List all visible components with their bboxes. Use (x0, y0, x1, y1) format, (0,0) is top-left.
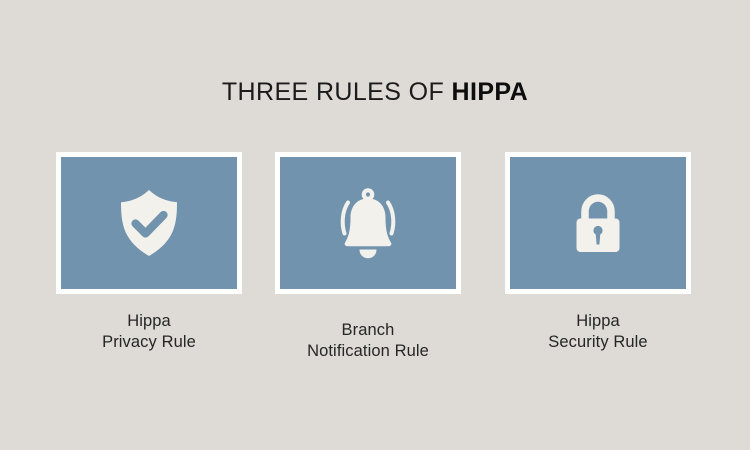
page-title: THREE RULES OF HIPPA (0, 78, 750, 107)
card-caption-line2: Notification Rule (275, 341, 461, 362)
card-caption: Hippa Security Rule (505, 311, 691, 353)
card-caption-line1: Hippa (56, 311, 242, 332)
card-caption-line1: Hippa (505, 311, 691, 332)
card-image-frame (505, 152, 691, 294)
card-image-frame (275, 152, 461, 294)
card-caption-line1: Branch (275, 320, 461, 341)
shield-check-icon (110, 184, 188, 262)
cards-row: Hippa Privacy Rule (0, 152, 750, 372)
card-branch-notification-rule[interactable]: Branch Notification Rule (275, 152, 461, 362)
card-caption-line2: Privacy Rule (56, 332, 242, 353)
card-caption-line2: Security Rule (505, 332, 691, 353)
page-title-lead: THREE RULES OF (222, 78, 452, 106)
card-image-frame (56, 152, 242, 294)
page-title-emphasis: HIPPA (452, 78, 529, 106)
card-caption: Hippa Privacy Rule (56, 311, 242, 353)
bell-ringing-icon (329, 184, 407, 262)
card-hippa-security-rule[interactable]: Hippa Security Rule (505, 152, 691, 353)
card-hippa-privacy-rule[interactable]: Hippa Privacy Rule (56, 152, 242, 353)
infographic-canvas: THREE RULES OF HIPPA Hippa Privacy Rule (0, 0, 750, 450)
card-caption: Branch Notification Rule (275, 320, 461, 362)
lock-icon (559, 184, 637, 262)
